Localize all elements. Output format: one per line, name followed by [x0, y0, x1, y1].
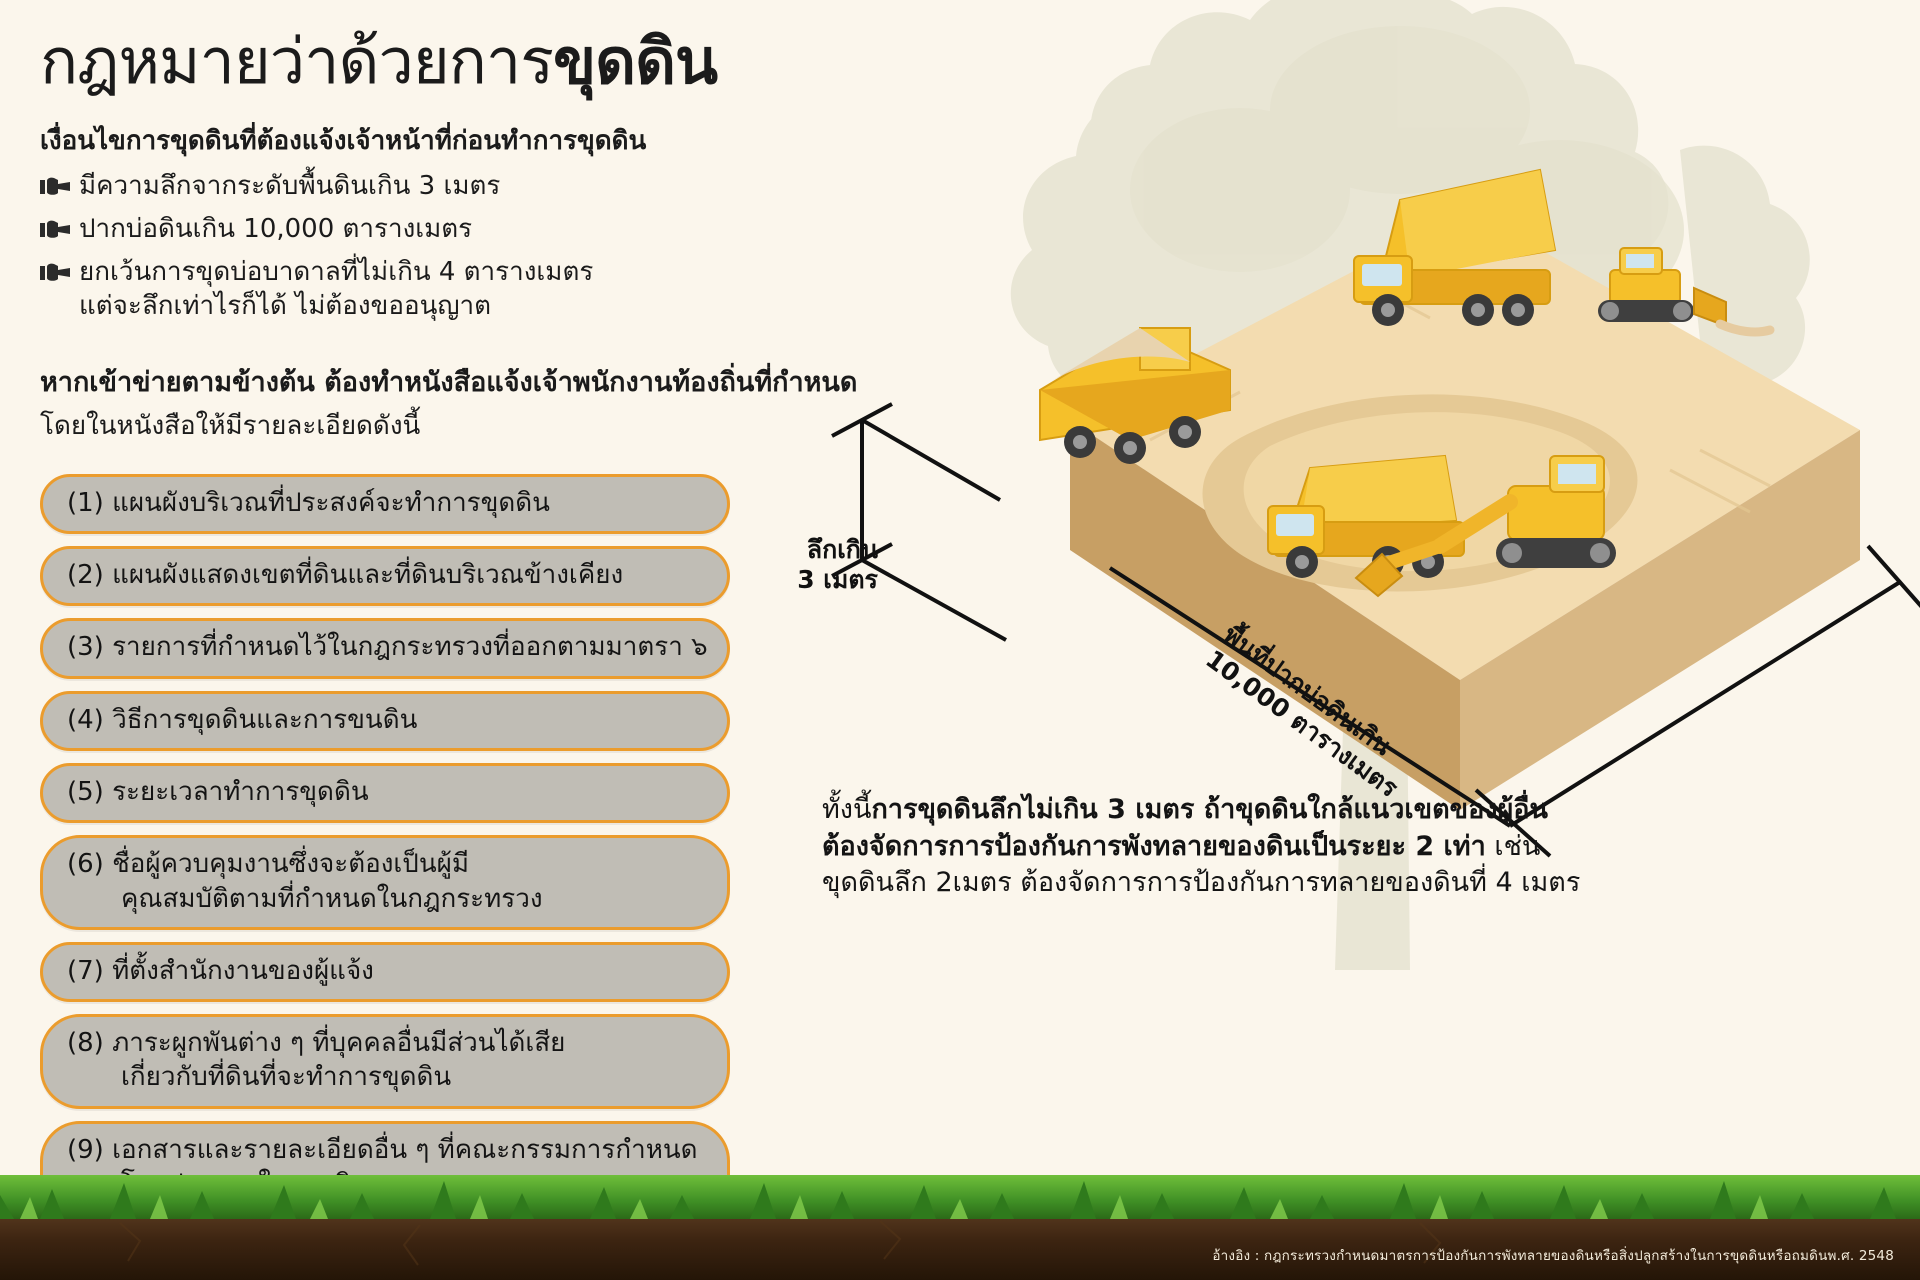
- pointing-hand-icon: [40, 218, 70, 242]
- note-line-2: ต้องจัดการการป้องกันการพังทลายของดินเป็น…: [822, 829, 1882, 866]
- requirement-line: (3) รายการที่กำหนดไว้ในกฎกระทรวงที่ออกตา…: [67, 630, 709, 664]
- note-line-1: ทั้งนี้การขุดดินลึกไม่เกิน 3 เมตร ถ้าขุด…: [822, 792, 1882, 829]
- note-line1-prefix: ทั้งนี้: [822, 794, 871, 825]
- requirement-line: เกี่ยวกับที่ดินที่จะทำการขุดดิน: [67, 1060, 709, 1094]
- footer-reference: อ้างอิง : กฎกระทรวงกำหนดมาตรการป้องกันกา…: [1212, 1244, 1894, 1266]
- condition-text: ปากบ่อดินเกิน 10,000 ตารางเมตร: [79, 213, 472, 247]
- condition-text: ยกเว้นการขุดบ่อบาดาลที่ไม่เกิน 4 ตารางเม…: [79, 256, 593, 324]
- page-title: กฎหมายว่าด้วยการขุดดิน: [40, 26, 900, 98]
- depth-label-line1: ลึกเกิน: [807, 535, 878, 564]
- requirement-line: คุณสมบัติตามที่กำหนดในกฎกระทรวง: [67, 882, 709, 916]
- list-item[interactable]: (7) ที่ตั้งสำนักงานของผู้แจ้ง: [40, 942, 730, 1002]
- note-line2-bold: ต้องจัดการการป้องกันการพังทลายของดินเป็น…: [822, 831, 1486, 862]
- requirement-line: (9) เอกสารและรายละเอียดอื่น ๆ ที่คณะกรรม…: [67, 1133, 709, 1167]
- pointing-hand-icon: [40, 175, 70, 199]
- requirement-line: (8) ภาระผูกพันต่าง ๆ ที่บุคคลอื่นมีส่วนไ…: [67, 1026, 709, 1060]
- list-item[interactable]: (8) ภาระผูกพันต่าง ๆ ที่บุคคลอื่นมีส่วนไ…: [40, 1014, 730, 1109]
- note-line-3: ขุดดินลึก 2เมตร ต้องจัดการการป้องกันการท…: [822, 865, 1882, 902]
- condition-text-main: ปากบ่อดินเกิน 10,000 ตารางเมตร: [79, 214, 472, 244]
- dump-truck-icon: [1354, 170, 1555, 326]
- bulldozer-icon: [1598, 248, 1770, 332]
- page-title-plain: กฎหมายว่าด้วยการ: [40, 25, 553, 98]
- requirement-line: (6) ชื่อผู้ควบคุมงานซึ่งจะต้องเป็นผู้มี: [67, 847, 709, 881]
- depth-dimension-line: [832, 404, 1006, 640]
- condition-text-main: ยกเว้นการขุดบ่อบาดาลที่ไม่เกิน 4 ตารางเม…: [79, 257, 593, 287]
- condition-text: มีความลึกจากระดับพื้นดินเกิน 3 เมตร: [79, 170, 500, 204]
- list-item[interactable]: (4) วิธีการขุดดินและการขนดิน: [40, 691, 730, 751]
- condition-text-main: มีความลึกจากระดับพื้นดินเกิน 3 เมตร: [79, 171, 500, 201]
- requirements-list: (1) แผนผังบริเวณที่ประสงค์จะทำการขุดดิน …: [40, 474, 730, 1216]
- note-line1-bold: การขุดดินลึกไม่เกิน 3 เมตร ถ้าขุดดินใกล้…: [871, 794, 1548, 825]
- list-item[interactable]: (1) แผนผังบริเวณที่ประสงค์จะทำการขุดดิน: [40, 474, 730, 534]
- pointing-hand-icon: [40, 261, 70, 285]
- requirement-line: (4) วิธีการขุดดินและการขนดิน: [67, 703, 709, 737]
- condition-text-sub: แต่จะลึกเท่าไรก็ได้ ไม่ต้องขออนุญาต: [79, 290, 593, 324]
- list-item[interactable]: (2) แผนผังแสดงเขตที่ดินและที่ดินบริเวณข้…: [40, 546, 730, 606]
- list-item[interactable]: (5) ระยะเวลาทำการขุดดิน: [40, 763, 730, 823]
- depth-label-line2: 3 เมตร: [797, 565, 878, 594]
- left-content-column: กฎหมายว่าด้วยการขุดดิน เงื่อนไขการขุดดิน…: [0, 0, 900, 1180]
- page-title-emphasis: ขุดดิน: [553, 25, 717, 98]
- requirement-line: (7) ที่ตั้งสำนักงานของผู้แจ้ง: [67, 954, 709, 988]
- requirement-line: (5) ระยะเวลาทำการขุดดิน: [67, 775, 709, 809]
- depth-label: ลึกเกิน 3 เมตร: [778, 535, 878, 594]
- note-line2-suffix: เช่น: [1494, 831, 1540, 862]
- note-block: ทั้งนี้การขุดดินลึกไม่เกิน 3 เมตร ถ้าขุด…: [822, 792, 1882, 902]
- list-item[interactable]: (3) รายการที่กำหนดไว้ในกฎกระทรวงที่ออกตา…: [40, 618, 730, 678]
- requirement-line: (2) แผนผังแสดงเขตที่ดินและที่ดินบริเวณข้…: [67, 558, 709, 592]
- requirement-line: (1) แผนผังบริเวณที่ประสงค์จะทำการขุดดิน: [67, 486, 709, 520]
- list-item[interactable]: (6) ชื่อผู้ควบคุมงานซึ่งจะต้องเป็นผู้มี …: [40, 835, 730, 930]
